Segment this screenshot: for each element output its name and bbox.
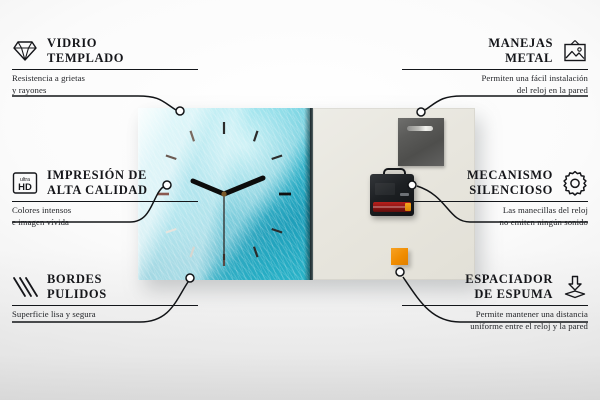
feature-foam-spacer: ESPACIADOR DE ESPUMA Permite mantener un…: [402, 272, 588, 332]
feature-silent-mechanism: MECANISMO SILENCIOSO Las manecillas del …: [402, 168, 588, 228]
feature-description: Las manecillas del reloj no emiten ningú…: [402, 205, 588, 228]
feature-description: Permiten una fácil instalación del reloj…: [402, 73, 588, 96]
hanger-slot: [407, 126, 433, 131]
feature-title: IMPRESIÓN DE ALTA CALIDAD: [47, 168, 148, 197]
ultra-hd-badge-icon: ultra HD: [12, 170, 38, 196]
feature-header: MECANISMO SILENCIOSO: [402, 168, 588, 197]
feature-header: ESPACIADOR DE ESPUMA: [402, 272, 588, 301]
feature-title: VIDRIO TEMPLADO: [47, 36, 124, 65]
minute-hand: [224, 178, 263, 194]
feature-description: Resistencia a grietas y rayones: [12, 73, 198, 96]
infographic-canvas: VIDRIO TEMPLADO Resistencia a grietas y …: [0, 0, 600, 400]
feature-divider: [402, 305, 588, 306]
feature-metal-hangers: MANEJAS METAL Permiten una fácil instala…: [402, 36, 588, 96]
feature-title: MECANISMO SILENCIOSO: [467, 168, 553, 197]
feature-divider: [402, 69, 588, 70]
feature-polished-edges: BORDES PULIDOS Superficie lisa y segura: [12, 272, 198, 321]
feature-divider: [402, 201, 588, 202]
clock-hands: [193, 178, 263, 260]
diamond-icon: [12, 38, 38, 64]
down-arrow-stack-icon: [562, 274, 588, 300]
picture-frame-icon: [562, 38, 588, 64]
feature-header: BORDES PULIDOS: [12, 272, 198, 301]
feature-hd-print: ultra HD IMPRESIÓN DE ALTA CALIDAD Color…: [12, 168, 198, 228]
orange-foam-spacer: [391, 248, 408, 265]
feature-header: ultra HD IMPRESIÓN DE ALTA CALIDAD: [12, 168, 198, 197]
feature-tempered-glass: VIDRIO TEMPLADO Resistencia a grietas y …: [12, 36, 198, 96]
metal-hanger-plate: [398, 118, 444, 166]
feature-description: Superficie lisa y segura: [12, 309, 198, 320]
feature-divider: [12, 305, 198, 306]
mechanism-panel: [375, 183, 395, 195]
feature-title: ESPACIADOR DE ESPUMA: [465, 272, 553, 301]
feature-divider: [12, 201, 198, 202]
feature-description: Colores intensos e imagen vívida: [12, 205, 198, 228]
feature-description: Permite mantener una distancia uniforme …: [402, 309, 588, 332]
hands-center-cap: [221, 191, 226, 196]
svg-text:HD: HD: [18, 182, 32, 193]
feature-header: MANEJAS METAL: [402, 36, 588, 65]
feature-title: BORDES PULIDOS: [47, 272, 107, 301]
gear-icon: [562, 170, 588, 196]
feature-divider: [12, 69, 198, 70]
feature-header: VIDRIO TEMPLADO: [12, 36, 198, 65]
diagonal-lines-icon: [12, 274, 38, 300]
feature-title: MANEJAS METAL: [488, 36, 553, 65]
